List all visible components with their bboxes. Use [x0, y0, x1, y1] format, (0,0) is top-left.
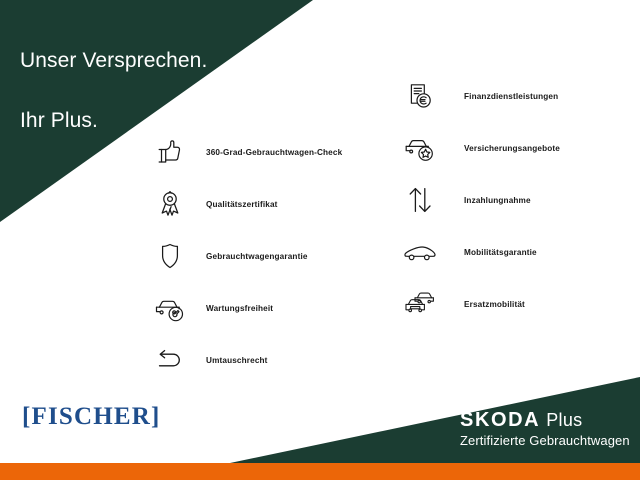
list-item: Versicherungsangebote: [398, 122, 560, 174]
list-item-label: Gebrauchtwagengarantie: [206, 252, 308, 261]
dealer-logo: [FISCHER]: [22, 404, 161, 429]
car-side-icon: [398, 230, 442, 274]
document-euro-icon: [398, 74, 442, 118]
u-turn-arrow-icon: [148, 338, 192, 382]
thumbs-up-icon: [148, 130, 192, 174]
list-item: Umtauschrecht: [148, 334, 342, 386]
list-item-label: Umtauschrecht: [206, 356, 268, 365]
list-item: Finanzdienstleistungen: [398, 70, 560, 122]
page-title-line-1: Unser Versprechen.: [20, 46, 300, 76]
list-item-label: Ersatzmobilität: [464, 300, 525, 309]
list-item-label: Finanzdienstleistungen: [464, 92, 558, 101]
list-item: Mobilitätsgarantie: [398, 226, 560, 278]
shield-icon: [148, 234, 192, 278]
list-item-label: 360-Grad-Gebrauchtwagen-Check: [206, 148, 342, 157]
list-item: Inzahlungnahme: [398, 174, 560, 226]
list-item: Ersatzmobilität: [398, 278, 560, 330]
list-item: Gebrauchtwagengarantie: [148, 230, 342, 282]
list-item-label: Mobilitätsgarantie: [464, 248, 537, 257]
promo-banner: Unser Versprechen. Ihr Plus. 360-Grad-Ge…: [0, 0, 640, 480]
brand-logo-top: ŠKODA Plus: [460, 410, 630, 430]
two-cars-icon: [398, 282, 442, 326]
car-wrench-icon: [148, 286, 192, 330]
feature-list-right: Finanzdienstleistungen Versicherungsange…: [398, 70, 560, 330]
brand-plus-label: Plus: [546, 411, 582, 429]
car-star-icon: [398, 126, 442, 170]
brand-logo: ŠKODA Plus Zertifizierte Gebrauchtwagen: [460, 410, 630, 447]
list-item-label: Inzahlungnahme: [464, 196, 531, 205]
list-item: Qualitätszertifikat: [148, 178, 342, 230]
arrows-up-down-icon: [398, 178, 442, 222]
list-item-label: Wartungsfreiheit: [206, 304, 273, 313]
list-item: Wartungsfreiheit: [148, 282, 342, 334]
award-rosette-icon: [148, 182, 192, 226]
orange-bottom-bar: [0, 463, 640, 480]
brand-name: ŠKODA: [460, 410, 540, 430]
feature-list-left: 360-Grad-Gebrauchtwagen-Check Qualitätsz…: [148, 126, 342, 386]
list-item: 360-Grad-Gebrauchtwagen-Check: [148, 126, 342, 178]
list-item-label: Qualitätszertifikat: [206, 200, 278, 209]
list-item-label: Versicherungsangebote: [464, 144, 560, 153]
brand-subtitle: Zertifizierte Gebrauchtwagen: [460, 434, 630, 447]
